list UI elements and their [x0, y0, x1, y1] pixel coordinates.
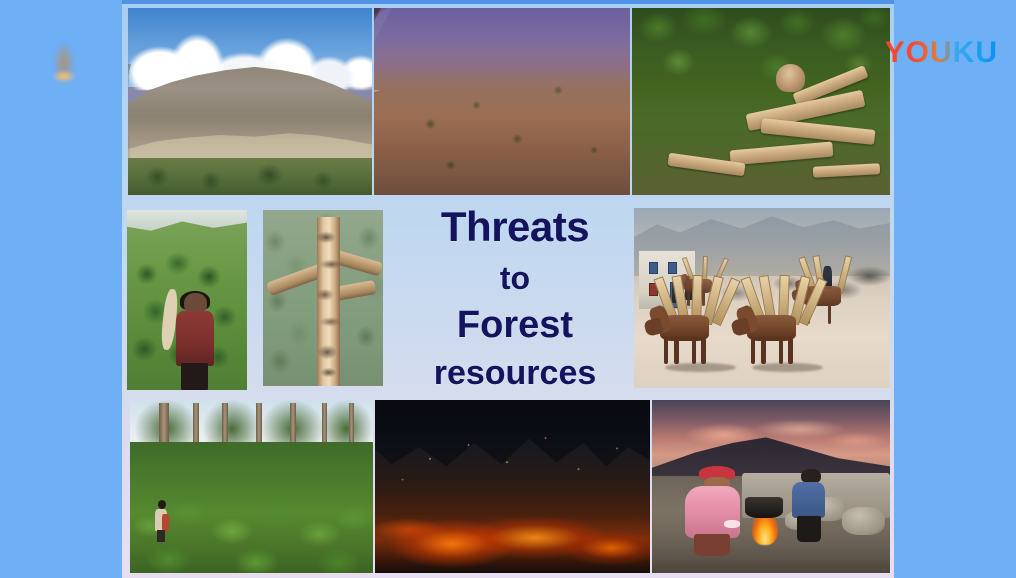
youku-watermark-logo: YOUKU: [885, 36, 998, 70]
fire-embers: [375, 400, 650, 573]
photo-timber-mules: [634, 208, 890, 388]
mule-shadow: [665, 363, 737, 372]
gatherer-legs: [157, 530, 165, 542]
mule-leg: [664, 338, 669, 364]
title-line-3: Forest: [396, 306, 634, 344]
photo-forest-fire: [375, 400, 650, 573]
video-player-frame: Threats to Forest resources YOUKU: [0, 0, 1016, 578]
mule-leg: [692, 338, 697, 364]
pack-mule: [660, 298, 727, 363]
mule-leg: [761, 338, 766, 364]
tree-stump: [776, 64, 804, 92]
mule-leg: [701, 338, 706, 364]
villager-legs: [181, 363, 208, 390]
pack-mule: [747, 298, 814, 363]
child-jacket: [792, 482, 824, 518]
photo-fodder-carrier: [127, 210, 247, 390]
house-window: [668, 262, 677, 275]
gatherer-bag: [162, 514, 168, 531]
mule-leg: [674, 338, 679, 364]
woman-cooking: [685, 466, 747, 556]
hillside-scrub: [374, 8, 630, 195]
photo-degraded-forest: [130, 400, 373, 573]
photo-open-fire-cooking: [652, 400, 890, 573]
mountain-green-valley: [128, 158, 372, 195]
title-line-2: to: [396, 262, 634, 294]
child-figure: [790, 469, 830, 542]
mountain-gullies: [128, 64, 372, 167]
photo-felled-timber: [632, 8, 890, 195]
child-legs: [797, 516, 820, 542]
woman-jacket: [685, 486, 739, 538]
woman-cuff: [724, 520, 740, 528]
mule-leg: [751, 338, 756, 364]
forest-gatherer: [154, 500, 169, 542]
slide-top-band: [122, 0, 894, 4]
mule-leg: [779, 338, 784, 364]
slide-title: Threats to Forest resources: [396, 206, 634, 390]
title-line-1: Threats: [396, 206, 634, 248]
title-line-4: resources: [396, 356, 634, 390]
photo-terraced-hillside: [374, 8, 630, 195]
photo-debarked-tree: [263, 210, 383, 386]
mule-leg: [828, 304, 832, 324]
fodder-villager: [175, 293, 223, 390]
presentation-slide: Threats to Forest resources: [122, 0, 894, 578]
lens-flare-glow-icon: [36, 32, 92, 92]
villager-coat: [176, 311, 214, 365]
house-window: [649, 262, 658, 275]
photo-eroded-mountain: [128, 8, 372, 195]
cooking-pot: [745, 497, 783, 518]
debarked-trunk: [317, 217, 340, 386]
woman-legs: [694, 534, 730, 556]
mule-shadow: [752, 363, 824, 372]
mule-leg: [788, 338, 793, 364]
